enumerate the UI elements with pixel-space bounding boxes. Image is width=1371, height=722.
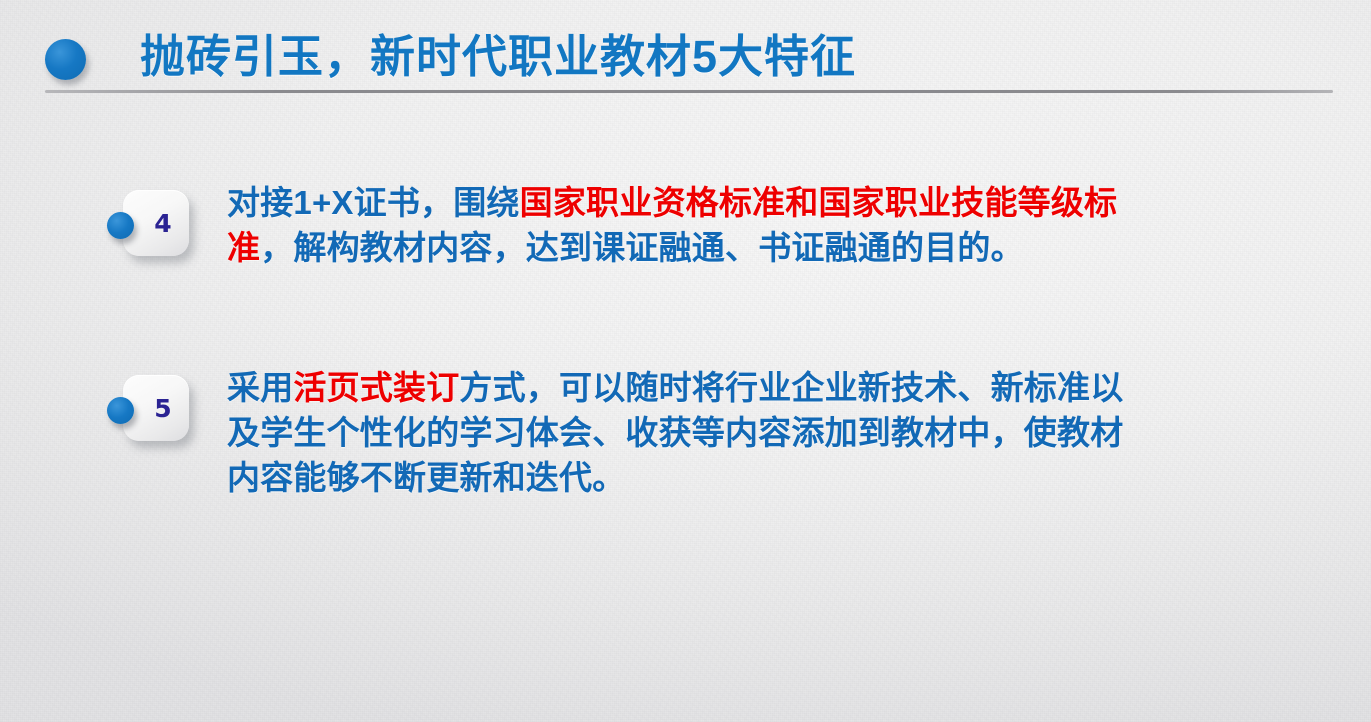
bullet-text-line: 及学生个性化的学习体会、收获等内容添加到教材中，使教材 [227, 410, 1247, 455]
number-badge-5: 5 [107, 375, 173, 441]
highlighted-text-run: 活页式装订 [293, 369, 459, 406]
badge-number-label: 5 [123, 375, 189, 441]
badge-number-label: 4 [123, 190, 189, 256]
bullet-text-4: 对接1+X证书，围绕国家职业资格标准和国家职业技能等级标准，解构教材内容，达到课… [227, 180, 1247, 270]
bullet-text-line: 对接1+X证书，围绕国家职业资格标准和国家职业技能等级标 [227, 180, 1247, 225]
text-run: 及学生个性化的学习体会、收获等内容添加到教材中，使教材 [227, 414, 1123, 451]
text-run: 采用 [227, 369, 293, 406]
title-divider [45, 90, 1333, 93]
slide-canvas: 抛砖引玉，新时代职业教材5大特征 4 对接1+X证书，围绕国家职业资格标准和国家… [0, 0, 1371, 722]
text-run: 内容能够不断更新和迭代。 [227, 459, 625, 496]
highlighted-text-run: 国家职业资格标准和国家职业技能等级标 [520, 184, 1118, 221]
filled-circle-bullet-icon [45, 39, 86, 80]
slide-title-row: 抛砖引玉，新时代职业教材5大特征 [0, 0, 1371, 100]
background-texture [0, 0, 1371, 722]
bullet-text-line: 采用活页式装订方式，可以随时将行业企业新技术、新标准以 [227, 365, 1247, 410]
text-run: 方式，可以随时将行业企业新技术、新标准以 [459, 369, 1123, 406]
text-run: 对接1+X证书，围绕 [227, 184, 520, 221]
bullet-text-5: 采用活页式装订方式，可以随时将行业企业新技术、新标准以及学生个性化的学习体会、收… [227, 365, 1247, 500]
number-badge-4: 4 [107, 190, 173, 256]
page-title: 抛砖引玉，新时代职业教材5大特征 [140, 28, 856, 86]
bullet-text-line: 准，解构教材内容，达到课证融通、书证融通的目的。 [227, 225, 1247, 270]
highlighted-text-run: 准 [227, 229, 260, 266]
text-run: ，解构教材内容，达到课证融通、书证融通的目的。 [260, 229, 1024, 266]
bullet-text-line: 内容能够不断更新和迭代。 [227, 455, 1247, 500]
